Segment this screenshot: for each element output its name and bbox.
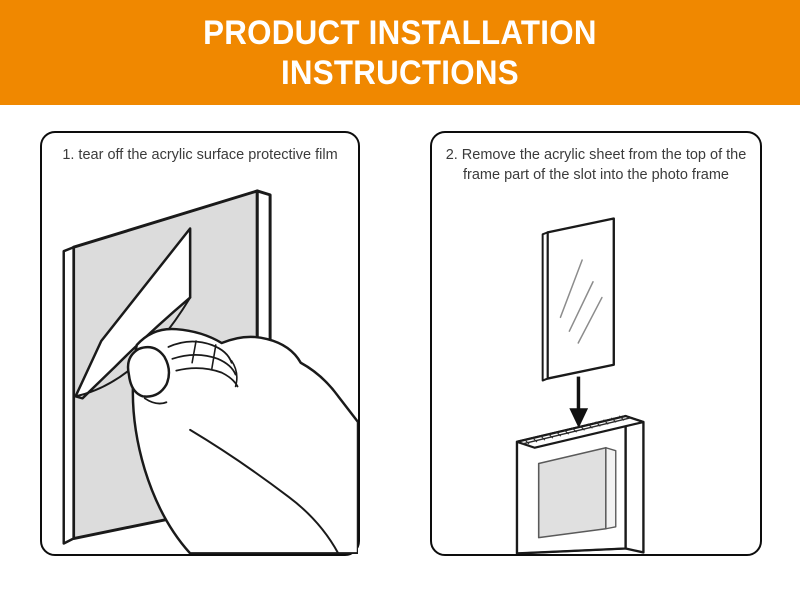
- acrylic-sheet-panel: [548, 219, 614, 379]
- frame-inner-bevel-right: [606, 448, 616, 529]
- arrow-shaft: [577, 377, 580, 413]
- step-2-illustration: [432, 133, 760, 554]
- page-header: PRODUCT INSTALLATION INSTRUCTIONS: [0, 0, 800, 105]
- insertion-arrow: [569, 377, 588, 428]
- frame-inner-panel: [539, 448, 606, 538]
- page-title: PRODUCT INSTALLATION INSTRUCTIONS: [166, 13, 633, 93]
- thumb-outline: [128, 347, 169, 396]
- sheet-into-frame-drawing: [432, 133, 760, 554]
- frame-side-face: [626, 416, 644, 552]
- instruction-panels: 1. tear off the acrylic surface protecti…: [0, 105, 800, 598]
- step-2-panel: 2. Remove the acrylic sheet from the top…: [430, 131, 762, 556]
- step-1-illustration: [42, 133, 358, 554]
- step-1-panel: 1. tear off the acrylic surface protecti…: [40, 131, 360, 556]
- hand-peeling-film-drawing: [42, 133, 358, 554]
- acrylic-sheet-thickness: [543, 232, 548, 380]
- acrylic-sheet-edge-left: [64, 247, 74, 543]
